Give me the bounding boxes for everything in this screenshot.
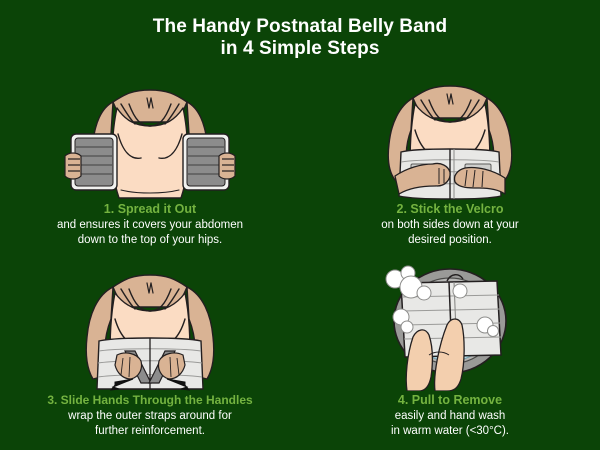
step-2-body: on both sides down at your desired posit… [300, 218, 600, 248]
step-card-2: 2. Stick the Velcro on both sides down a… [300, 68, 600, 259]
step-3-body-line-2: further reinforcement. [0, 424, 300, 439]
step-2-heading: 2. Stick the Velcro [300, 201, 600, 217]
step-4-heading: 4. Pull to Remove [300, 392, 600, 408]
step-2-body-line-1: on both sides down at your [300, 218, 600, 233]
step-card-4: 4. Pull to Remove easily and hand wash i… [300, 259, 600, 450]
step-4-body-line-1: easily and hand wash [300, 409, 600, 424]
step-4-illustration [355, 259, 545, 391]
step-1-body-line-2: down to the top of your hips. [0, 233, 300, 248]
step-card-1: 1. Spread it Out and ensures it covers y… [0, 68, 300, 259]
infographic-poster: The Handy Postnatal Belly Band in 4 Simp… [0, 0, 600, 450]
step-card-3: 3. Slide Hands Through the Handles wrap … [0, 259, 300, 450]
step-1-body-line-1: and ensures it covers your abdomen [0, 218, 300, 233]
step-2-body-line-2: desired position. [300, 233, 600, 248]
step-3-heading: 3. Slide Hands Through the Handles [0, 392, 300, 408]
step-1-heading: 1. Spread it Out [0, 201, 300, 217]
step-4-body: easily and hand wash in warm water (<30°… [300, 409, 600, 439]
title-line-2: in 4 Simple Steps [0, 38, 600, 60]
step-1-body: and ensures it covers your abdomen down … [0, 218, 300, 248]
step-3-illustration [55, 259, 245, 391]
step-1-caption: 1. Spread it Out and ensures it covers y… [0, 201, 300, 248]
title-line-1: The Handy Postnatal Belly Band [153, 16, 447, 37]
page-title: The Handy Postnatal Belly Band in 4 Simp… [0, 16, 600, 60]
step-4-body-line-2: in warm water (<30°C). [300, 424, 600, 439]
steps-grid: 1. Spread it Out and ensures it covers y… [0, 68, 600, 450]
step-1-illustration [55, 68, 245, 200]
step-2-illustration [355, 68, 545, 200]
step-3-body: wrap the outer straps around for further… [0, 409, 300, 439]
step-4-caption: 4. Pull to Remove easily and hand wash i… [300, 392, 600, 439]
step-2-caption: 2. Stick the Velcro on both sides down a… [300, 201, 600, 248]
step-3-caption: 3. Slide Hands Through the Handles wrap … [0, 392, 300, 439]
step-3-body-line-1: wrap the outer straps around for [0, 409, 300, 424]
